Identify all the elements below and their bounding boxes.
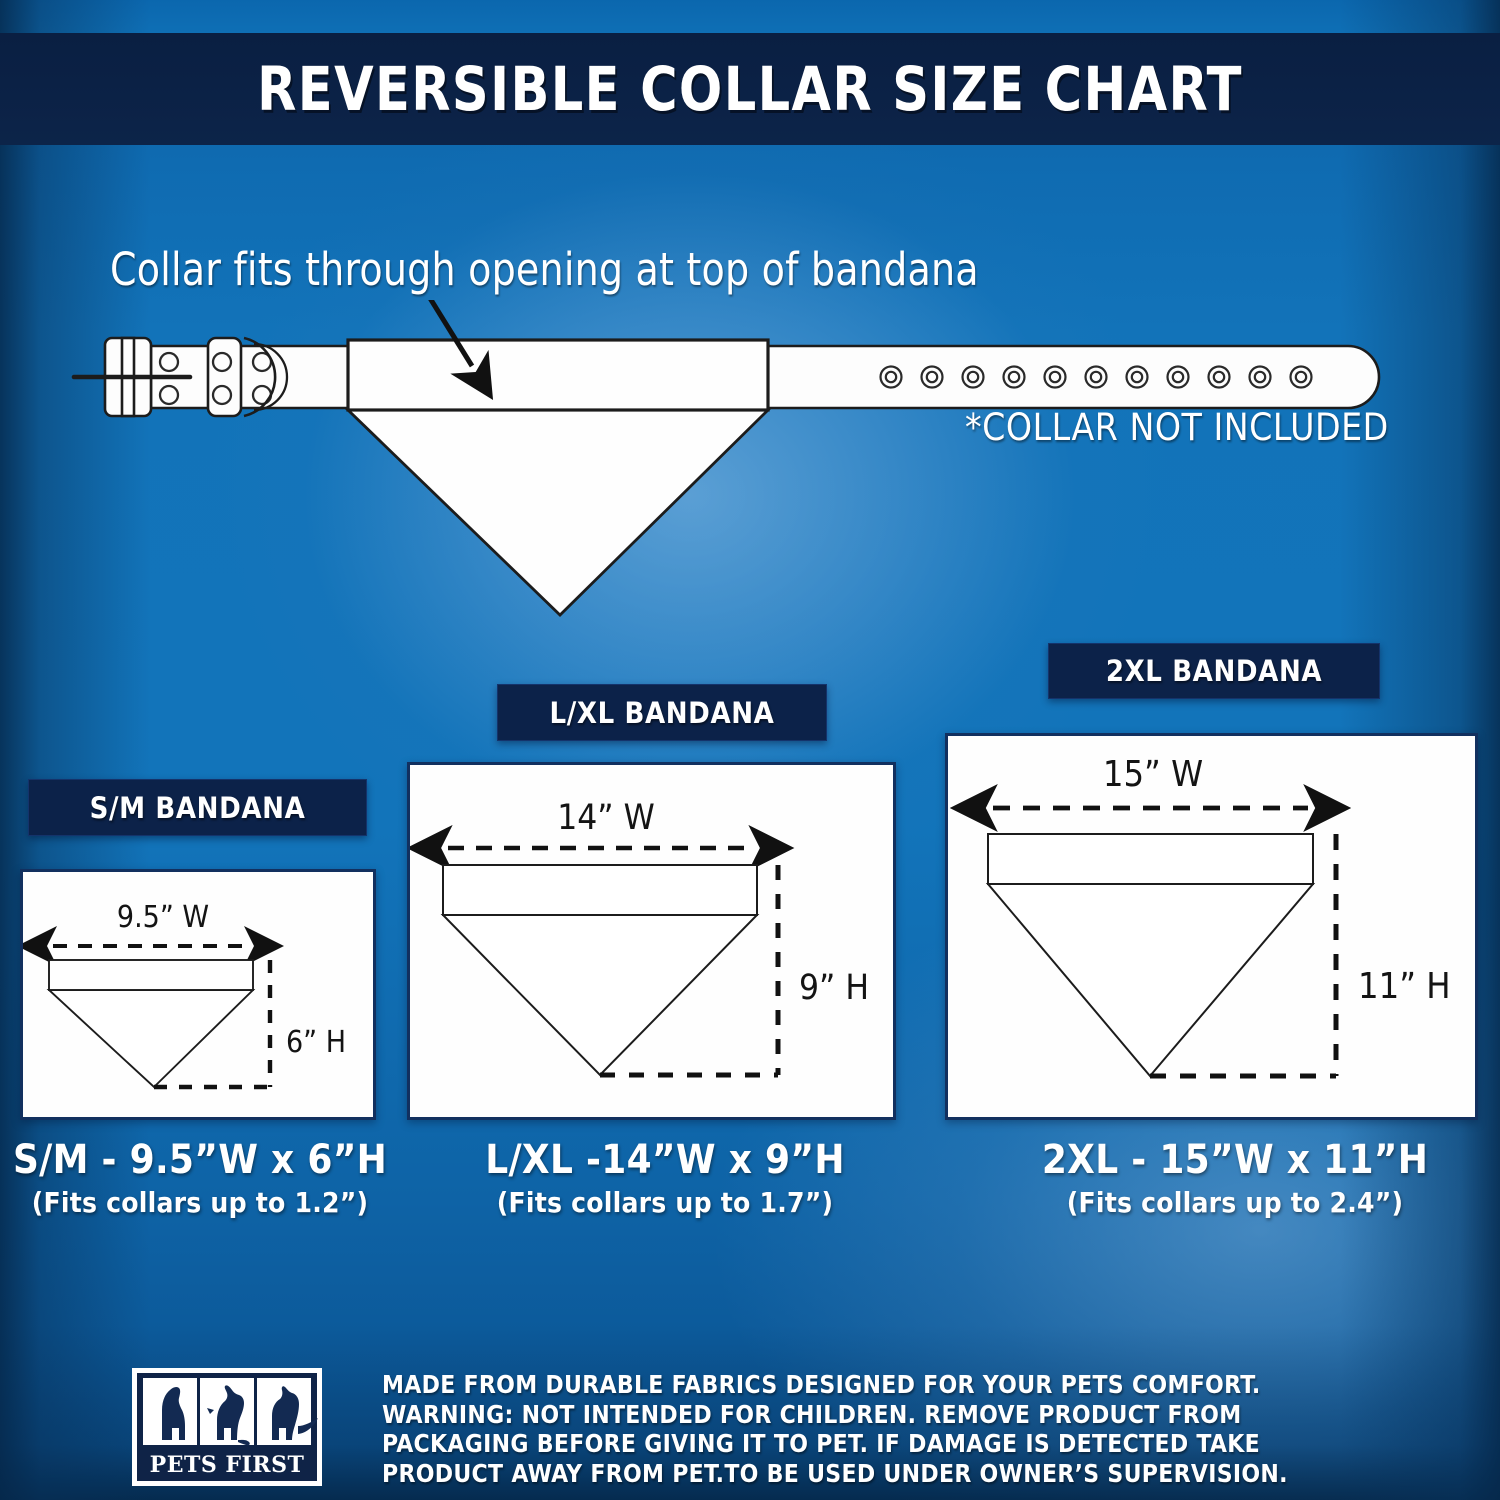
bandana-diagram-lxl: 14” W 9” H — [410, 765, 887, 1111]
size-badge-2xl: 2XL BANDANA — [1048, 643, 1380, 699]
pets-first-logo-svg: PETS FIRST — [132, 1368, 322, 1486]
bandana-triangle-sm — [49, 990, 253, 1087]
size-badge-sm: S/M BANDANA — [28, 779, 367, 836]
page-title: REVERSIBLE COLLAR SIZE CHART — [257, 59, 1243, 120]
top-accent-strip — [0, 0, 1500, 33]
collar-strap-left — [74, 338, 360, 416]
bandana-shape — [348, 340, 768, 615]
size-caption-lxl: L/XL -14”W x 9”H — [430, 1137, 900, 1183]
size-caption-2xl: 2XL - 15”W x 11”H — [1000, 1137, 1470, 1183]
size-subcaption-2xl: (Fits collars up to 2.4”) — [1000, 1186, 1470, 1220]
bandana-triangle-2xl — [988, 884, 1313, 1076]
height-label-sm: 6” H — [286, 1025, 346, 1060]
size-caption-sm: S/M - 9.5”W x 6”H — [0, 1137, 400, 1183]
size-badge-lxl: L/XL BANDANA — [497, 684, 827, 741]
brand-logo: PETS FIRST — [132, 1368, 322, 1490]
collar-strap-right — [760, 346, 1379, 408]
bandana-sleeve-lxl — [443, 865, 757, 915]
width-label-sm: 9.5” W — [117, 900, 209, 935]
legal-line-1: MADE FROM DURABLE FABRICS DESIGNED FOR Y… — [382, 1370, 1402, 1400]
legal-disclaimer: MADE FROM DURABLE FABRICS DESIGNED FOR Y… — [382, 1370, 1402, 1488]
legal-line-3: PACKAGING BEFORE GIVING IT TO PET. IF DA… — [382, 1429, 1402, 1459]
width-label-lxl: 14” W — [557, 798, 655, 838]
header-bar: REVERSIBLE COLLAR SIZE CHART — [0, 33, 1500, 145]
bandana-sleeve-2xl — [988, 834, 1313, 884]
size-chart-infographic: REVERSIBLE COLLAR SIZE CHART Collar fits… — [0, 0, 1500, 1500]
collar-not-included-note: *COLLAR NOT INCLUDED — [965, 408, 1389, 448]
size-diagram-box-lxl: 14” W 9” H — [407, 762, 896, 1120]
size-subcaption-lxl: (Fits collars up to 1.7”) — [430, 1186, 900, 1220]
tagline-text: Collar fits through opening at top of ba… — [110, 245, 1191, 295]
size-diagram-box-sm: 9.5” W 6” H — [20, 869, 376, 1120]
bandana-diagram-sm: 9.5” W 6” H — [23, 872, 367, 1111]
collar-bandana-illustration — [0, 300, 1500, 630]
logo-wordmark-text: PETS FIRST — [150, 1452, 305, 1478]
bandana-triangle-lxl — [443, 915, 757, 1075]
height-label-2xl: 11” H — [1358, 966, 1451, 1007]
bandana-diagram-2xl: 15” W 11” H — [948, 736, 1469, 1111]
height-label-lxl: 9” H — [799, 968, 869, 1008]
size-diagram-box-2xl: 15” W 11” H — [945, 733, 1478, 1120]
bandana-collar-sleeve — [348, 340, 768, 410]
collar-diagram-svg — [0, 300, 1500, 630]
legal-line-2: WARNING: NOT INTENDED FOR CHILDREN. REMO… — [382, 1400, 1402, 1430]
size-subcaption-sm: (Fits collars up to 1.2”) — [0, 1186, 400, 1220]
legal-line-4: PRODUCT AWAY FROM PET.TO BE USED UNDER O… — [382, 1459, 1402, 1489]
bandana-sleeve-sm — [49, 960, 253, 990]
width-label-2xl: 15” W — [1103, 754, 1203, 795]
bandana-triangle — [348, 410, 768, 615]
